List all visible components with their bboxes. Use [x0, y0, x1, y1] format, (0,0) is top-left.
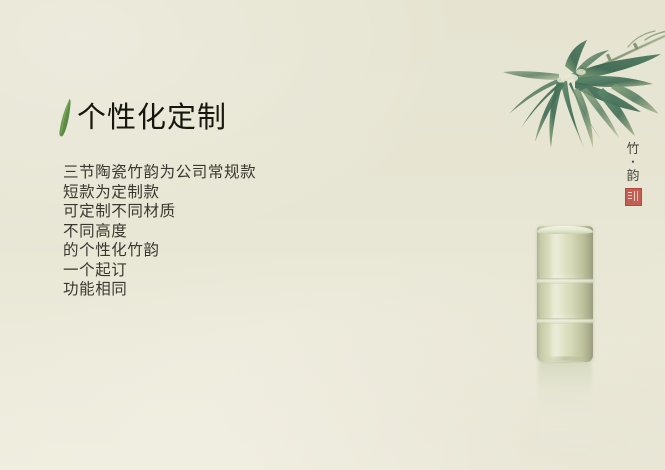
copy-line: 可定制不同材质 — [63, 202, 383, 222]
copy-line: 三节陶瓷竹韵为公司常规款 — [63, 163, 383, 183]
brand-char-top: 竹 — [620, 140, 646, 157]
vase-rim — [537, 226, 593, 234]
page-title: 个性化定制 — [77, 101, 227, 135]
copy-line: 的个性化竹韵 — [63, 241, 383, 261]
brand-mark: 竹 • 韵 — [620, 140, 646, 206]
copy-line: 不同高度 — [63, 222, 383, 242]
leaf-accent-icon — [58, 98, 71, 138]
poster-canvas: 竹 • 韵 个性化定制 — [0, 0, 665, 470]
brand-separator-dot: • — [620, 157, 646, 167]
copy-line: 功能相同 — [63, 280, 383, 300]
copy-line: 短款为定制款 — [63, 183, 383, 203]
vase-body — [537, 226, 593, 362]
vase-segment-joint-2 — [537, 318, 593, 324]
celadon-bamboo-vase — [537, 226, 593, 456]
vase-contact-shadow — [539, 356, 591, 363]
title-block: 个性化定制 — [58, 98, 227, 138]
brand-char-bottom: 韵 — [620, 167, 646, 184]
vase-reflection — [538, 363, 592, 455]
vase-segment-joint-1 — [537, 278, 593, 284]
body-copy: 三节陶瓷竹韵为公司常规款 短款为定制款 可定制不同材质 不同高度 的个性化竹韵 … — [63, 163, 383, 300]
red-seal-stamp-icon — [625, 188, 642, 206]
copy-line: 一个起订 — [63, 261, 383, 281]
vase-highlight — [549, 229, 563, 359]
